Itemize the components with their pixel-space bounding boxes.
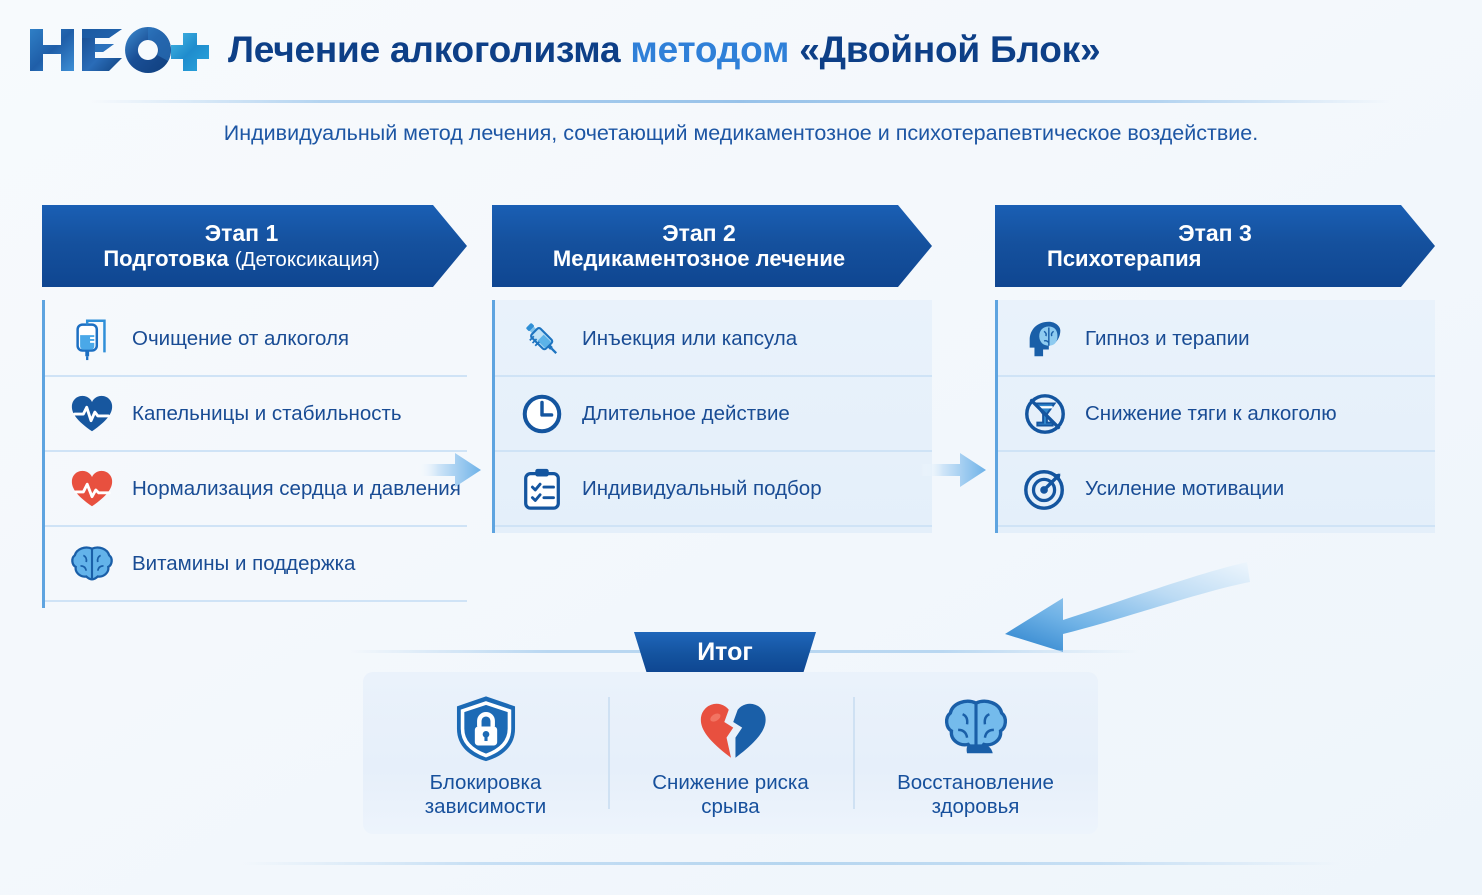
loop-arrow-to-result — [985, 548, 1250, 658]
title-part-3: «Двойной Блок» — [799, 29, 1100, 70]
syringe-icon — [519, 316, 565, 362]
title-part-1: Лечение алкоголизма — [228, 29, 620, 70]
stage-name-2: Медикаментозное лечение — [553, 246, 845, 271]
feature-label: Усиление мотивации — [1085, 477, 1284, 501]
stage-body-2: Инъекция или капсула Длительное действие — [492, 300, 932, 533]
neo-plus-logo — [26, 23, 212, 77]
brain-icon — [69, 541, 115, 587]
head-brain-icon — [1022, 316, 1068, 362]
stage-subname-1: (Детоксикация) — [235, 248, 380, 271]
stage-card-1: Этап 1 Подготовка (Детоксикация) Очищени… — [42, 205, 467, 608]
feature-label: Индивидуальный подбор — [582, 477, 822, 501]
feature-row: Снижение тяги к алкоголю — [998, 377, 1435, 452]
stages-container: Этап 1 Подготовка (Детоксикация) Очищени… — [0, 205, 1482, 565]
result-box: Блокировка зависимости Снижение риска ср… — [363, 672, 1098, 834]
feature-row: Очищение от алкоголя — [45, 302, 467, 377]
stage-arrow-2 — [920, 448, 986, 492]
result-item: Восстановление здоровья — [853, 687, 1098, 819]
result-caption: Снижение риска срыва — [652, 771, 808, 819]
result-caption: Восстановление здоровья — [897, 771, 1054, 819]
feature-label: Длительное действие — [582, 402, 790, 426]
broken-heart-icon — [692, 693, 770, 764]
result-caption-line2: зависимости — [425, 795, 546, 818]
heart-pulse-blue-icon — [69, 391, 115, 437]
page-header: Лечение алкоголизма методом «Двойной Бло… — [0, 0, 1482, 100]
stage-body-3: Гипноз и терапии Снижение тяги к алкогол… — [995, 300, 1435, 533]
result-caption-line2: здоровья — [932, 795, 1020, 818]
feature-label: Витамины и поддержка — [132, 552, 355, 576]
stage-label-3: Этап 3 — [1178, 221, 1252, 246]
result-item: Снижение риска срыва — [608, 687, 853, 819]
feature-row: Длительное действие — [495, 377, 932, 452]
stage-label-2: Этап 2 — [662, 221, 736, 246]
feature-row: Индивидуальный подбор — [495, 452, 932, 527]
stage-name-1: Подготовка — [103, 246, 228, 271]
result-caption-line1: Блокировка — [430, 771, 542, 794]
page-subtitle: Индивидуальный метод лечения, сочетающий… — [0, 121, 1482, 146]
page-title: Лечение алкоголизма методом «Двойной Бло… — [228, 29, 1100, 71]
feature-row: Инъекция или капсула — [495, 302, 932, 377]
result-caption-line1: Снижение риска — [652, 771, 808, 794]
stage-label-1: Этап 1 — [205, 221, 279, 246]
result-caption-line2: срыва — [701, 795, 759, 818]
result-caption: Блокировка зависимости — [425, 771, 546, 819]
stage-header-2: Этап 2 Медикаментозное лечение — [492, 205, 932, 287]
shield-lock-icon — [447, 693, 525, 764]
result-item: Блокировка зависимости — [363, 687, 608, 819]
feature-row: Капельницы и стабильность — [45, 377, 467, 452]
header-divider — [90, 100, 1390, 103]
stage-header-3: Этап 3 Психотерапия — [995, 205, 1435, 287]
iv-drip-icon — [69, 316, 115, 362]
heart-pulse-red-icon — [69, 466, 115, 512]
stage-name-3: Психотерапия — [1047, 246, 1201, 271]
clock-icon — [519, 391, 565, 437]
footer-divider — [240, 862, 1340, 865]
feature-label: Инъекция или капсула — [582, 327, 797, 351]
target-arrow-icon — [1022, 466, 1068, 512]
feature-label: Нормализация сердца и давления — [132, 477, 461, 501]
stage-body-1: Очищение от алкоголя Капельницы и стабил… — [42, 300, 467, 608]
stage-card-3: Этап 3 Психотерапия Гипноз и терапии — [995, 205, 1435, 533]
stage-card-2: Этап 2 Медикаментозное лечение — [492, 205, 932, 533]
brain-recovery-icon — [937, 693, 1015, 764]
feature-label: Очищение от алкоголя — [132, 327, 349, 351]
stage-arrow-1 — [415, 448, 481, 492]
feature-label: Гипноз и терапии — [1085, 327, 1250, 351]
feature-label: Снижение тяги к алкоголю — [1085, 402, 1337, 426]
feature-row: Нормализация сердца и давления — [45, 452, 467, 527]
feature-row: Усиление мотивации — [998, 452, 1435, 527]
result-banner: Итог — [634, 632, 816, 673]
title-part-2: методом — [630, 29, 789, 70]
feature-label: Капельницы и стабильность — [132, 402, 402, 426]
stage-header-1: Этап 1 Подготовка (Детоксикация) — [42, 205, 467, 287]
feature-row: Витамины и поддержка — [45, 527, 467, 602]
feature-row: Гипноз и терапии — [998, 302, 1435, 377]
no-alcohol-glass-icon — [1022, 391, 1068, 437]
clipboard-checklist-icon — [519, 466, 565, 512]
result-caption-line1: Восстановление — [897, 771, 1054, 794]
